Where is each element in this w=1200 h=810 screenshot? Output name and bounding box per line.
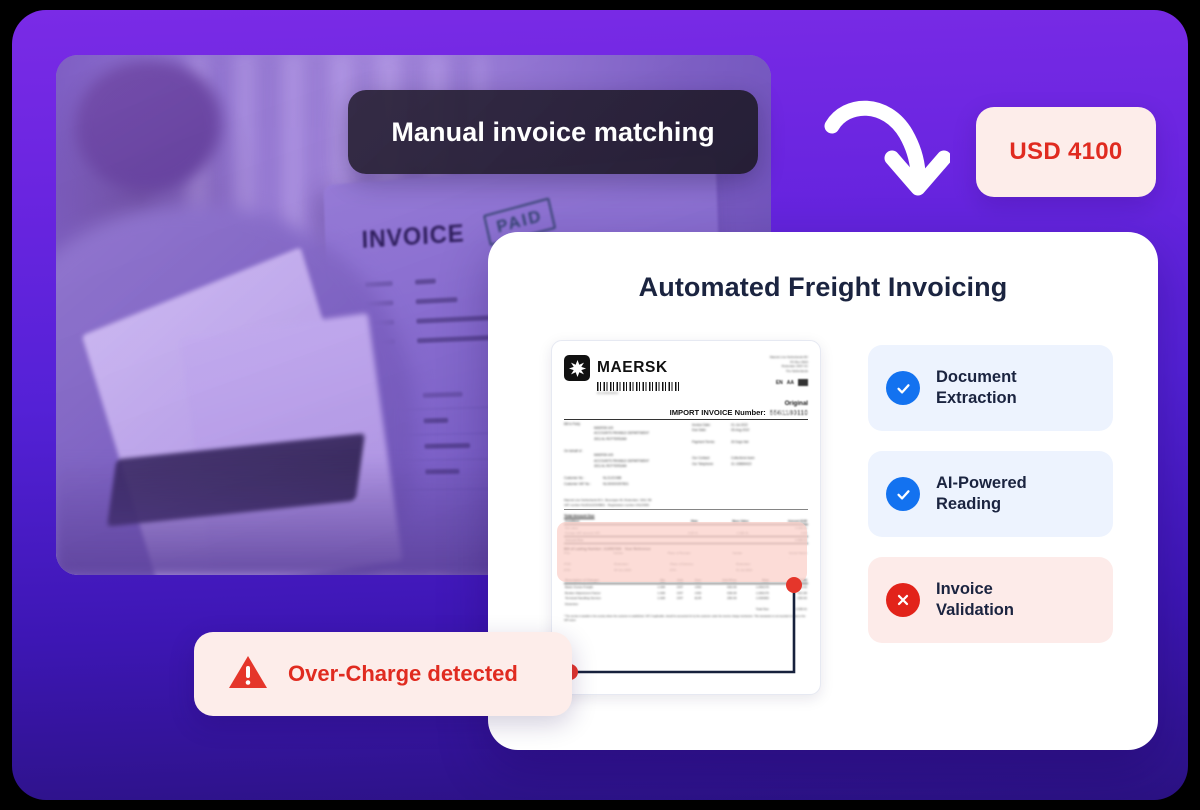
cross-circle-icon <box>886 583 920 617</box>
feature-label-ai-powered-reading: AI-Powered Reading <box>936 473 1027 515</box>
maersk-star-icon <box>564 355 590 381</box>
invoice-preview-panel[interactable]: MAERSK NL23A00001 Maersk Line Netherland… <box>551 340 821 695</box>
import-invoice-number: 5561180110 <box>770 410 808 417</box>
invoice-original-tag: Original <box>564 400 808 407</box>
check-circle-icon <box>886 477 920 511</box>
total-amount-due-table: Condition Rate Base Value Amount EUR Net… <box>564 518 808 544</box>
our-telephone-value: 31-108884422 <box>731 462 752 467</box>
description-of-charges-table: Description of Charges Qty Unit Curr Uni… <box>564 577 808 612</box>
bill-to-address: MAERSK A/S ACCOUNTS PAYABLE DEPARTMENT 3… <box>594 426 680 442</box>
due-date-label: Due Date: <box>692 428 726 433</box>
feature-invoice-validation[interactable]: Invoice Validation <box>868 557 1113 643</box>
table-row-total: Total Due1 038.31 <box>564 607 808 613</box>
feature-ai-powered-reading[interactable]: AI-Powered Reading <box>868 451 1113 537</box>
table-row-total: Amount Due1 038.31 <box>564 537 808 544</box>
payment-terms-value: 30 Days Net <box>731 440 749 445</box>
invoice-sender-address: Maersk Line Netherlands BV PO Box 9920 R… <box>770 355 808 373</box>
over-charge-alert-text: Over-Charge detected <box>288 661 518 687</box>
invoice-footnote: * The service is taxable in the country … <box>564 615 808 623</box>
total-amount-due-section: Total Amount Due Condition Rate Base Val… <box>564 514 808 544</box>
payment-terms-label: Payment Terms: <box>692 440 726 445</box>
invoice-divider <box>564 419 808 420</box>
invoice-brand: MAERSK <box>597 359 668 377</box>
over-charge-alert: Over-Charge detected <box>194 632 572 716</box>
on-behalf-address: MAERSK A/S ACCOUNTS PAYABLE DEPARTMENT 3… <box>594 453 680 469</box>
feature-document-extraction[interactable]: Document Extraction <box>868 345 1113 431</box>
invoice-flags: ENAA <box>770 379 808 386</box>
invoice-barcode <box>597 382 679 391</box>
check-circle-icon <box>886 371 920 405</box>
import-invoice-title: IMPORT INVOICE Number: <box>670 408 766 417</box>
feature-list: Document Extraction AI-Powered Reading <box>868 345 1113 643</box>
hero-gradient-card: INVOICE PAID <box>12 10 1188 800</box>
customer-vat-label: Customer VAT No : <box>564 482 598 487</box>
feature-label-document-extraction: Document Extraction <box>936 367 1017 409</box>
manual-invoice-matching-text: Manual invoice matching <box>391 117 714 148</box>
shipment-meta: POL :YantianPlace of Receipt :YantianVes… <box>564 551 808 573</box>
customer-vat-value: NL000000097B01 <box>603 482 629 487</box>
invoice-office-footer: Maersk Line Netherlands B.V., Boompjes 4… <box>564 498 808 507</box>
screenshot-root: INVOICE PAID <box>0 0 1200 810</box>
page-title: Automated Freight Invoicing <box>488 272 1158 303</box>
charges-section: Description of Charges Qty Unit Curr Uni… <box>564 577 808 612</box>
usd-amount-badge: USD 4100 <box>976 107 1156 197</box>
automated-freight-invoicing-card: Automated Freight Invoicing MAERSK <box>488 232 1158 750</box>
feature-label-invoice-validation: Invoice Validation <box>936 579 1014 621</box>
manual-invoice-matching-label: Manual invoice matching <box>348 90 758 174</box>
usd-amount-text: USD 4100 <box>1009 138 1122 166</box>
invoice-divider-2 <box>564 509 808 510</box>
invoice-barcode-number: NL23A00001 <box>597 391 679 395</box>
warning-triangle-icon <box>228 654 268 695</box>
curved-arrow-down-right-icon <box>824 96 950 202</box>
our-telephone-label: Our Telephone: <box>692 462 726 467</box>
due-date-value: 05-Aug-2022 <box>731 428 749 433</box>
